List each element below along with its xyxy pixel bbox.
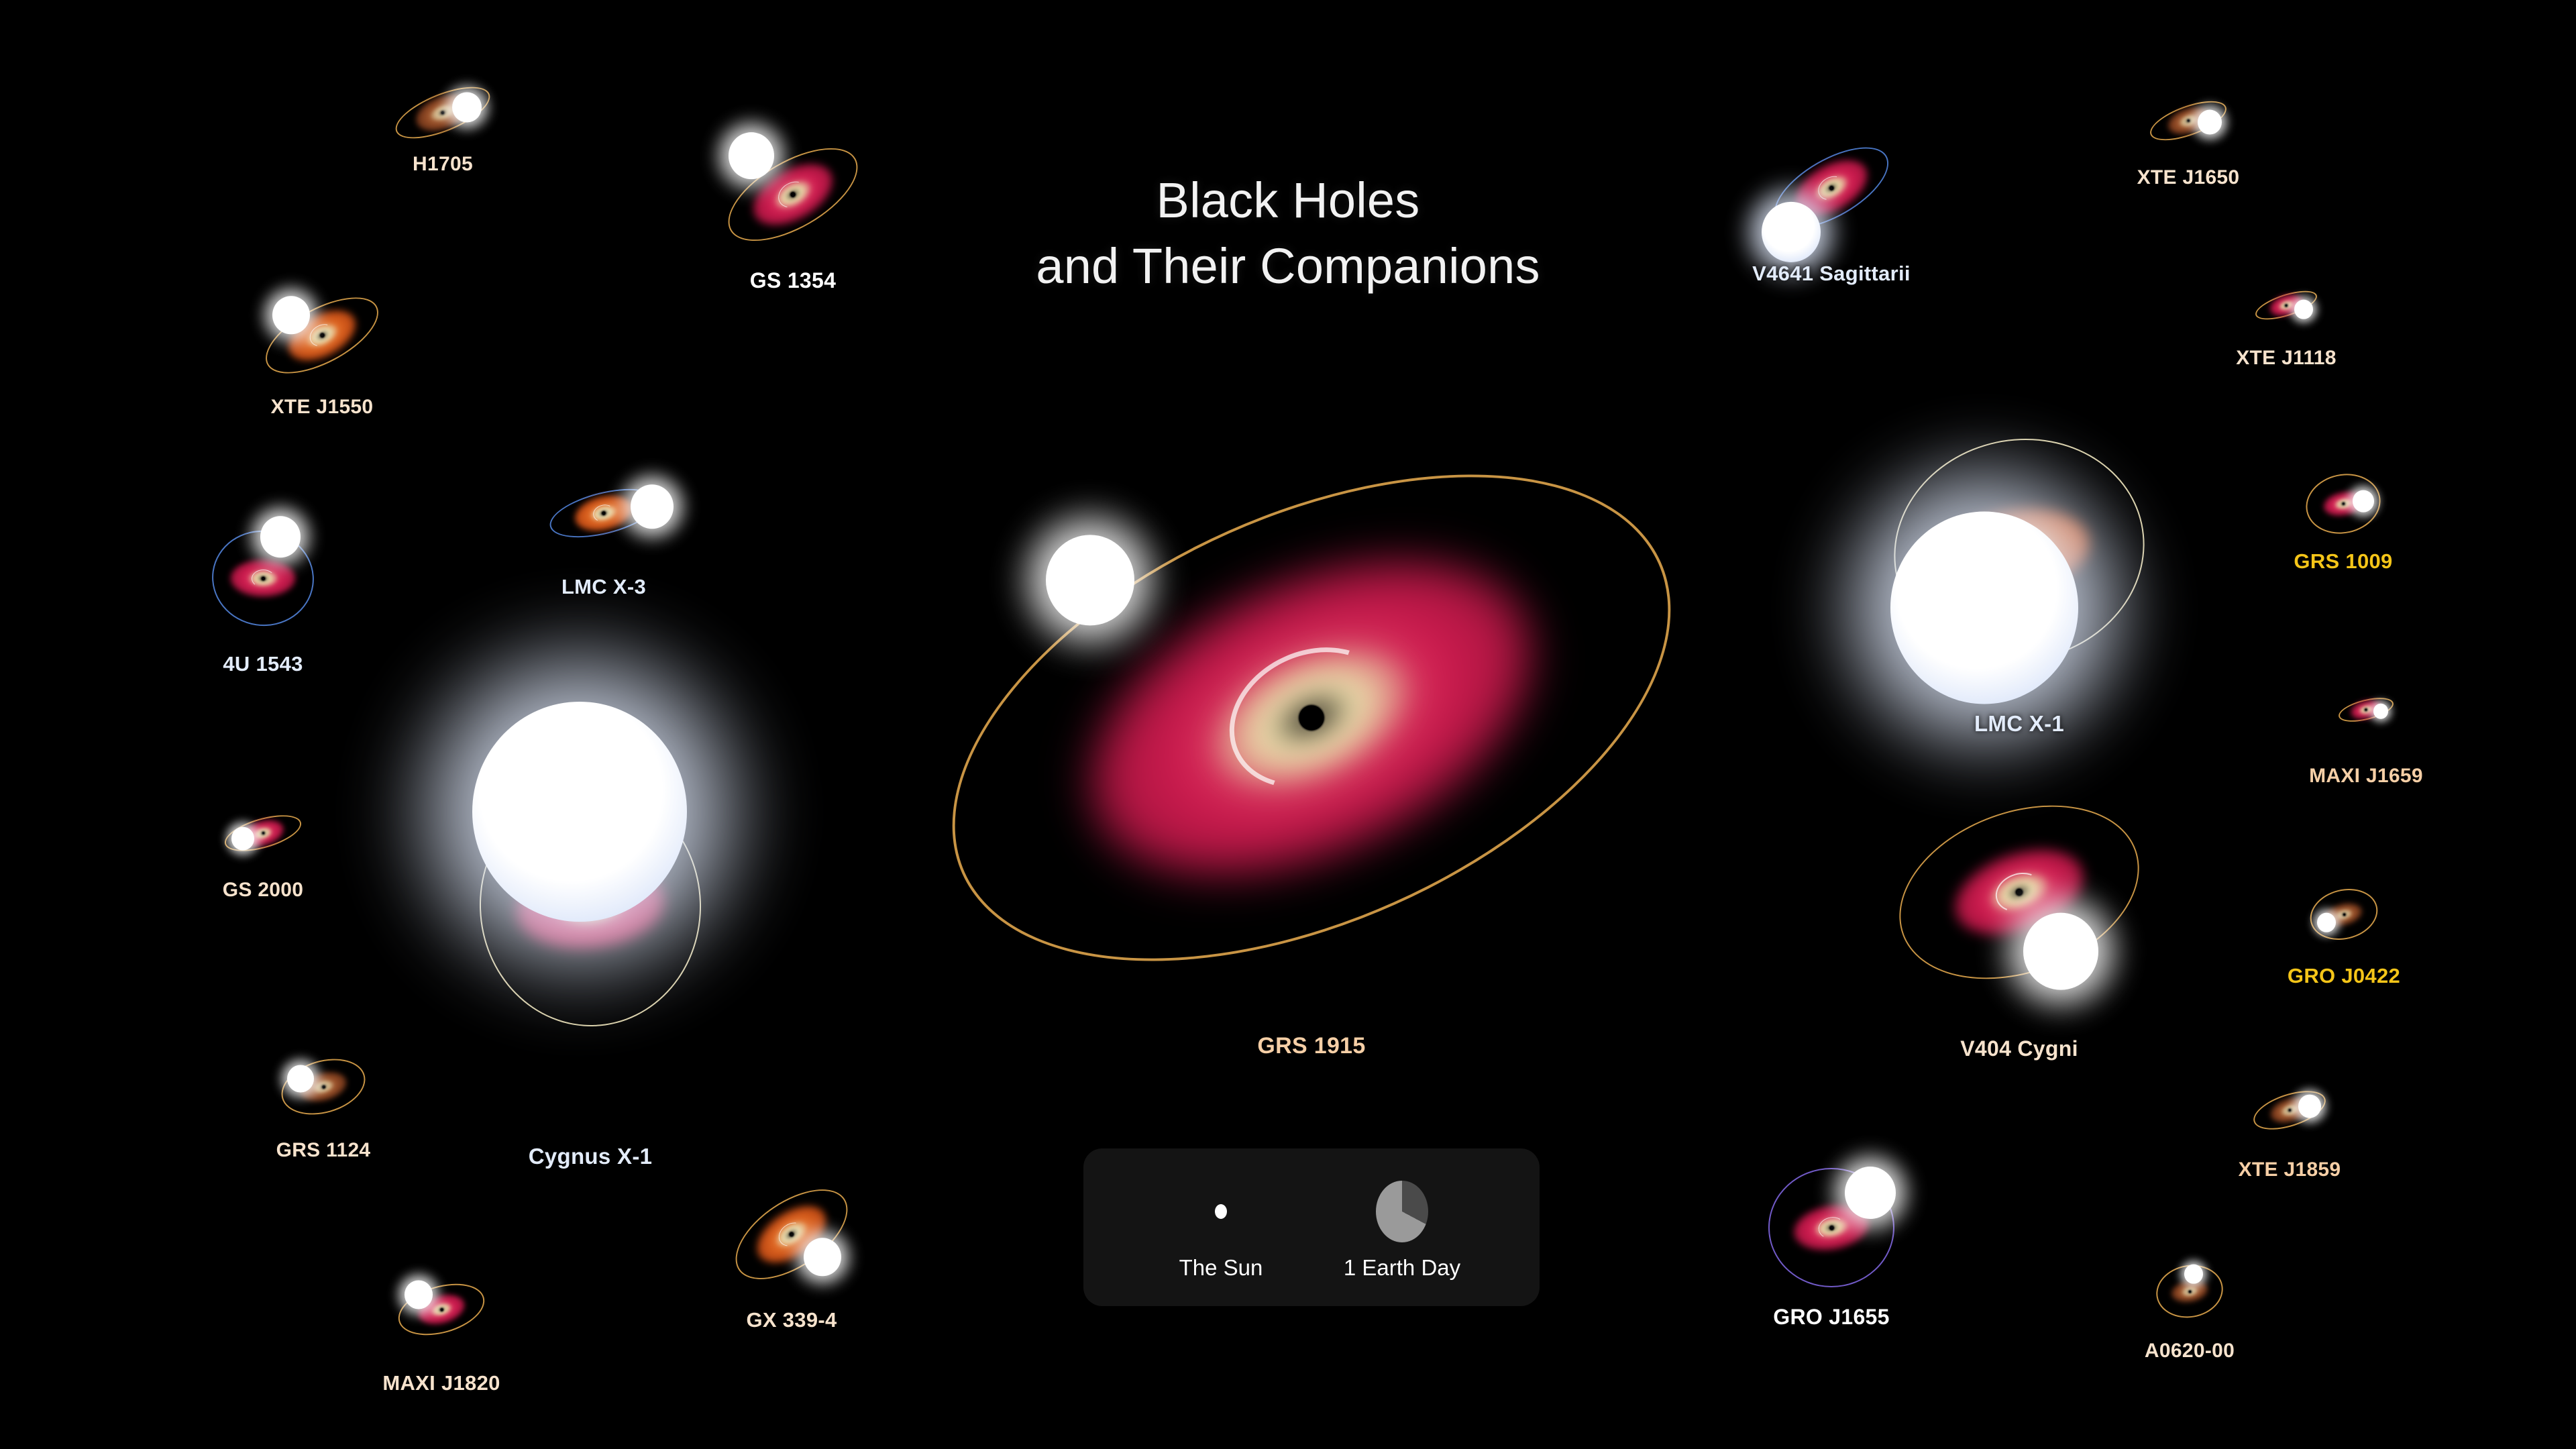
sun-dot-glyph <box>1215 1175 1227 1248</box>
system-label: MAXI J1659 <box>2309 765 2423 788</box>
star-core <box>260 516 301 557</box>
system-label: LMC X-3 <box>561 575 646 599</box>
system-label: GS 2000 <box>223 879 304 902</box>
system-label: GX 339-4 <box>746 1308 837 1332</box>
system-label: Cygnus X-1 <box>529 1144 653 1169</box>
star-core <box>2353 490 2374 513</box>
system-label: GRS 1124 <box>276 1139 371 1162</box>
star-core <box>631 484 674 529</box>
star-core <box>405 1280 433 1309</box>
star-core <box>1845 1167 1896 1219</box>
legend-item-earth-day: 1 Earth Day <box>1311 1175 1493 1281</box>
companion-star <box>2317 913 2336 932</box>
star-core <box>231 827 254 851</box>
companion-star <box>472 702 687 922</box>
system-label: GRO J1655 <box>1773 1305 1889 1330</box>
companion-star <box>1890 512 2078 704</box>
star-core <box>729 132 774 179</box>
companion-star <box>2198 110 2222 135</box>
system-label: GRS 1915 <box>1257 1033 1365 1059</box>
legend-caption: 1 Earth Day <box>1344 1255 1460 1281</box>
system-label: XTE J1550 <box>271 396 374 419</box>
companion-star <box>2294 300 2313 319</box>
companion-star <box>804 1238 841 1276</box>
legend-caption: The Sun <box>1179 1255 1263 1281</box>
star-core <box>2298 1095 2321 1118</box>
star-core <box>1762 202 1821 262</box>
star-core <box>2317 913 2336 932</box>
companion-star <box>2023 913 2098 990</box>
earth-day-pie-glyph <box>1376 1175 1428 1248</box>
companion-star <box>2298 1095 2321 1118</box>
companion-star <box>287 1065 314 1093</box>
system-label: GRS 1009 <box>2294 549 2392 574</box>
earth-day-clock <box>1376 1181 1428 1242</box>
star-core <box>472 702 687 922</box>
companion-star <box>272 296 310 334</box>
system-label: XTE J1650 <box>2137 166 2240 189</box>
system-label: V404 Cygni <box>1960 1036 2078 1061</box>
star-core <box>452 92 482 122</box>
star-core <box>804 1238 841 1276</box>
system-label: 4U 1543 <box>223 652 303 676</box>
legend-panel: The Sun1 Earth Day <box>1083 1148 1540 1306</box>
star-core <box>272 296 310 334</box>
system-label: MAXI J1820 <box>382 1371 500 1395</box>
companion-star <box>1046 535 1134 625</box>
star-core <box>2184 1265 2203 1284</box>
companion-star <box>2373 704 2388 719</box>
companion-star <box>405 1280 433 1309</box>
legend-item-sun: The Sun <box>1130 1175 1311 1281</box>
companion-star <box>729 132 774 179</box>
system-label: V4641 Sagittarii <box>1752 262 1911 286</box>
system-label: GS 1354 <box>750 268 836 293</box>
star-core <box>2294 300 2313 319</box>
companion-star <box>2353 490 2374 513</box>
system-label: XTE J1859 <box>2239 1159 2341 1181</box>
system-label: A0620-00 <box>2145 1340 2235 1362</box>
star-core <box>2023 913 2098 990</box>
companion-star <box>2184 1265 2203 1284</box>
sun-scale-dot <box>1215 1204 1227 1219</box>
companion-star <box>231 827 254 851</box>
system-label: GRO J0422 <box>2288 964 2400 988</box>
star-core <box>2373 704 2388 719</box>
companion-star <box>631 484 674 529</box>
companion-star <box>1845 1167 1896 1219</box>
companion-star <box>260 516 301 557</box>
star-core <box>2198 110 2222 135</box>
companion-star <box>1762 202 1821 262</box>
system-label: XTE J1118 <box>2236 347 2337 370</box>
star-core <box>287 1065 314 1093</box>
system-label: LMC X-1 <box>1974 711 2064 737</box>
sky-canvas: Black Holes and Their Companions H1705GS… <box>0 0 2576 1449</box>
system-label: H1705 <box>413 153 473 176</box>
star-core <box>1046 535 1134 625</box>
companion-star <box>452 92 482 122</box>
star-core <box>1890 512 2078 704</box>
